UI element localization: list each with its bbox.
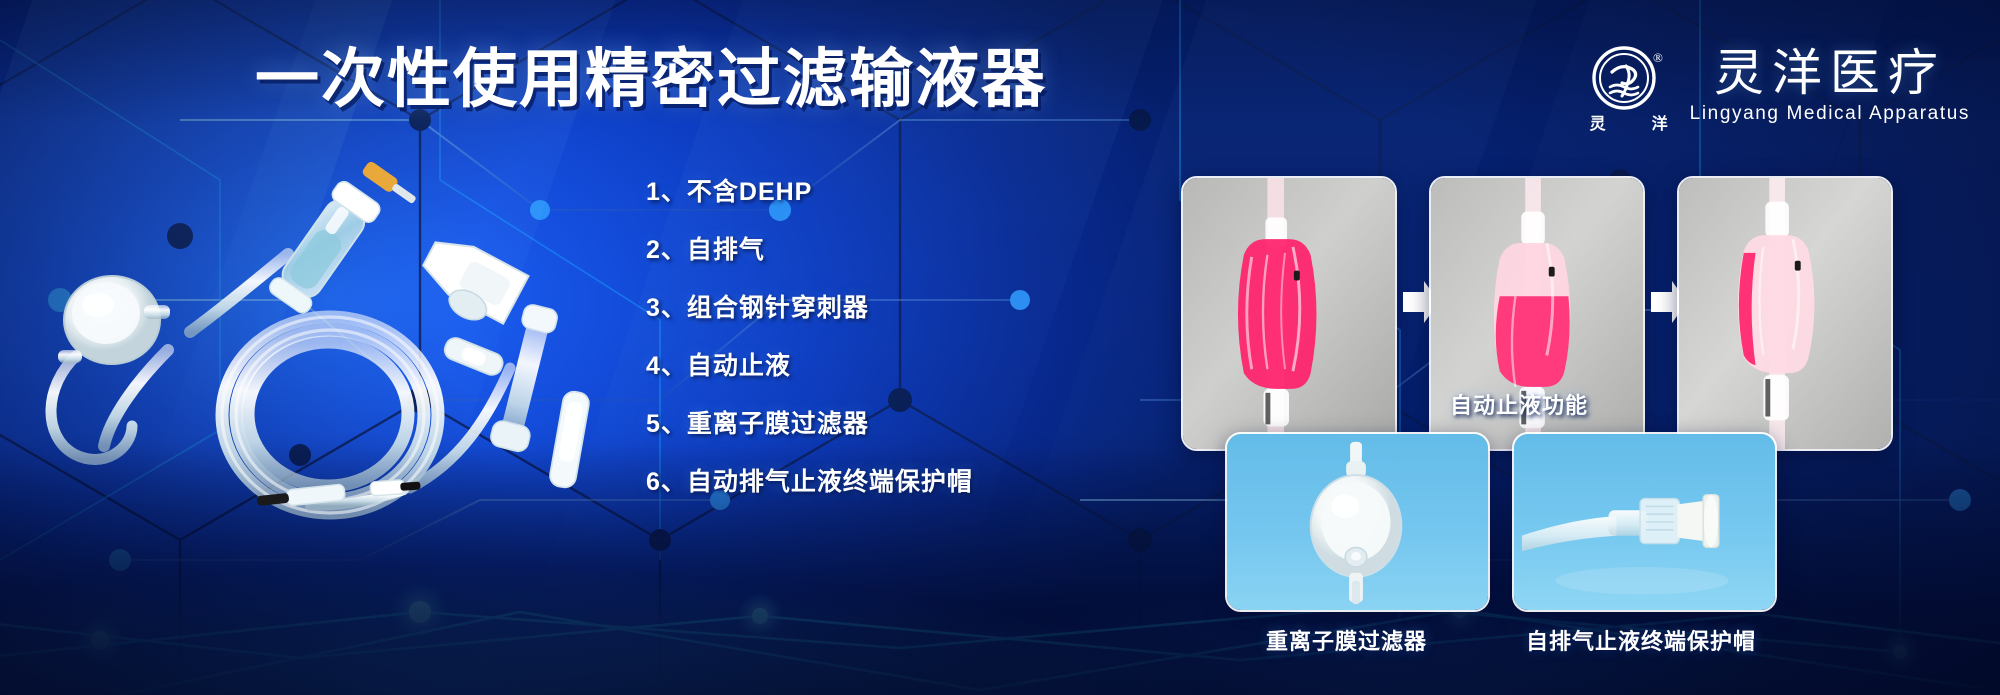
feature-item: 3、组合钢针穿刺器 xyxy=(646,288,973,324)
brand-lockup: ® 灵 洋 灵洋医疗 Lingyang Medical Apparatus xyxy=(1586,40,1970,132)
feature-item: 5、重离子膜过滤器 xyxy=(646,404,973,440)
feature-item: 1、不含DEHP xyxy=(646,172,973,208)
page-title: 一次性使用精密过滤输液器 xyxy=(255,47,1047,111)
disposable-precision-filter-infusion-set-photo xyxy=(40,150,680,550)
registered-mark: ® xyxy=(1653,50,1663,65)
sequence-caption: 自动止液功能 xyxy=(1450,388,1588,420)
logo-char-right: 洋 xyxy=(1652,110,1668,134)
feature-item: 6、自动排气止液终端保护帽 xyxy=(646,462,973,498)
feature-item: 4、自动止液 xyxy=(646,346,973,382)
brand-name-cn: 灵洋医疗 xyxy=(1714,47,1946,100)
logo-char-left: 灵 xyxy=(1590,110,1606,134)
brand-name-en: Lingyang Medical Apparatus xyxy=(1690,103,1970,125)
auto-stop-step-1-photo xyxy=(1181,176,1397,451)
product-banner: 一次性使用精密过滤输液器 ® 灵 洋 灵洋医疗 Lingyang Medical… xyxy=(0,0,2000,695)
auto-stop-step-3-photo xyxy=(1677,176,1893,451)
component-caption: 自排气止液终端保护帽 xyxy=(1526,624,1756,656)
component-caption: 重离子膜过滤器 xyxy=(1266,624,1427,656)
heavy-ion-membrane-filter-photo xyxy=(1225,432,1490,612)
self-venting-terminal-protective-cap-photo xyxy=(1512,432,1777,612)
feature-list: 1、不含DEHP 2、自排气 3、组合钢针穿刺器 4、自动止液 5、重离子膜过滤… xyxy=(646,172,973,498)
lingyang-circular-emblem-icon: ® 灵 洋 xyxy=(1586,40,1672,132)
feature-item: 2、自排气 xyxy=(646,230,973,266)
